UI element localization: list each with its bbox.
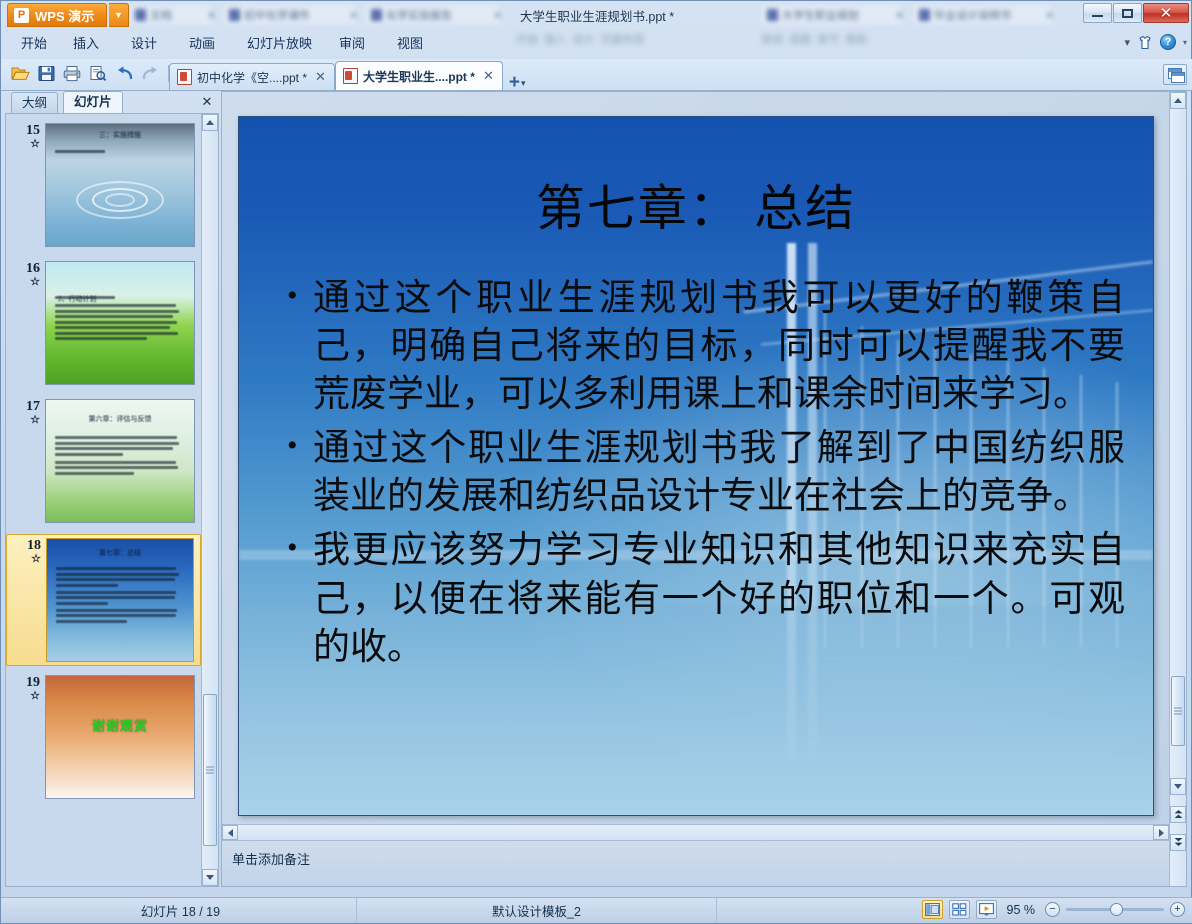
status-slide-counter: 幻灯片 18 / 19 bbox=[5, 898, 357, 923]
wps-app-button[interactable]: P WPS 演示 bbox=[7, 3, 107, 27]
thumbnail-image: 第七章：总结 bbox=[46, 538, 194, 662]
slide-bullet-1: • 通过这个职业生涯规划书我可以更好的鞭策自己，明确自己将来的目标，同时可以提醒… bbox=[287, 275, 1125, 419]
ribbon-tab-design[interactable]: 设计 bbox=[123, 34, 165, 54]
document-tab-strip: 初中化学《空....ppt * ✕ 大学生职业生....ppt * ✕ + ▾ bbox=[169, 61, 525, 90]
status-template-name: 默认设计模板_2 bbox=[357, 898, 717, 923]
bullet-marker-icon: • bbox=[287, 275, 313, 419]
scrollbar-thumb[interactable] bbox=[203, 694, 217, 846]
document-tab-career-plan[interactable]: 大学生职业生....ppt * ✕ bbox=[335, 61, 503, 90]
pane-tab-outline[interactable]: 大纲 bbox=[11, 92, 58, 113]
bullet-text: 通过这个职业生涯规划书我可以更好的鞭策自己，明确自己将来的目标，同时可以提醒我不… bbox=[313, 275, 1125, 419]
slide-title[interactable]: 第七章： 总结 bbox=[239, 169, 1153, 240]
thumbnail-scrollbar[interactable] bbox=[201, 114, 218, 886]
pane-tab-strip: 大纲 幻灯片 ✕ bbox=[5, 91, 219, 113]
minimize-button[interactable] bbox=[1083, 3, 1112, 23]
slide-bullet-3: • 我更应该努力学习专业知识和其他知识来充实自己，以便在将来能有一个好的职位和一… bbox=[287, 527, 1125, 671]
document-tab-label: 初中化学《空....ppt * bbox=[197, 69, 307, 86]
window-controls: ✕ bbox=[1083, 3, 1189, 23]
scroll-up-button[interactable] bbox=[1170, 92, 1186, 109]
help-icon[interactable]: ? bbox=[1160, 34, 1176, 50]
maximize-button[interactable] bbox=[1113, 3, 1142, 23]
thumbnail-item-16[interactable]: 16 ☆ 2、行 bbox=[6, 258, 201, 390]
normal-view-button[interactable] bbox=[922, 900, 943, 919]
thumbnail-title: 2、行动计划 bbox=[58, 294, 97, 304]
status-zoom-controls: 95 % − + bbox=[922, 900, 1186, 919]
bullet-text: 通过这个职业生涯规划书我了解到了中国纺织服装业的发展和纺织品设计专业在社会上的竞… bbox=[313, 425, 1125, 521]
thumbnail-item-18[interactable]: 18 ☆ 第七章：总结 bbox=[6, 534, 201, 666]
help-caret-icon[interactable]: ▾ bbox=[1183, 38, 1187, 47]
redo-icon[interactable] bbox=[139, 62, 161, 84]
previous-slide-button[interactable] bbox=[1170, 806, 1186, 823]
animation-star-icon: ☆ bbox=[12, 414, 40, 427]
animation-star-icon: ☆ bbox=[12, 138, 40, 151]
ribbon-tab-view[interactable]: 视图 bbox=[389, 34, 431, 54]
next-slide-button[interactable] bbox=[1170, 834, 1186, 851]
zoom-level-label: 95 % bbox=[1007, 903, 1036, 917]
bullet-marker-icon: • bbox=[287, 527, 313, 671]
ribbon-tab-review[interactable]: 审阅 bbox=[331, 34, 373, 54]
new-tab-group: + ▾ bbox=[509, 76, 526, 90]
bullet-text: 我更应该努力学习专业知识和其他知识来充实自己，以便在将来能有一个好的职位和一个。… bbox=[313, 527, 1125, 671]
thumbnail-item-19[interactable]: 19 ☆ 谢谢观赏 bbox=[6, 672, 201, 804]
notes-placeholder: 单击添加备注 bbox=[232, 852, 310, 867]
window-title: 大学生职业生涯规划书.ppt * bbox=[1, 6, 1192, 25]
scroll-down-button[interactable] bbox=[202, 869, 218, 886]
title-bar: P WPS 演示 ▼ 大学生职业生涯规划书.ppt * ✕ bbox=[1, 1, 1192, 29]
scroll-up-button[interactable] bbox=[202, 114, 218, 131]
thumbnail-item-17[interactable]: 17 ☆ 第六章：评估与反馈 bbox=[6, 396, 201, 528]
thumbnail-image: 三：实施措施 bbox=[45, 123, 195, 247]
wps-presentation-window: 文档 ✕ 初中化学课件 ✕ 化学实验报告 ✕ 大学生职业规划 ✕ 毕业设计说明书… bbox=[0, 0, 1192, 924]
thumbnail-list: 15 ☆ 三：实施措施 16 ☆ bbox=[5, 113, 219, 887]
document-tab-chemistry[interactable]: 初中化学《空....ppt * ✕ bbox=[169, 63, 335, 90]
thumbnail-body-lines bbox=[55, 150, 186, 156]
skin-shirt-icon[interactable] bbox=[1137, 35, 1153, 50]
zoom-slider-handle[interactable] bbox=[1110, 903, 1123, 916]
slideshow-view-button[interactable] bbox=[976, 900, 997, 919]
notes-pane[interactable]: 单击添加备注 bbox=[222, 840, 1169, 886]
pane-tab-slides[interactable]: 幻灯片 bbox=[63, 91, 123, 113]
pane-close-icon[interactable]: ✕ bbox=[199, 94, 215, 109]
thumbnail-image: 第六章：评估与反馈 bbox=[45, 399, 195, 523]
zoom-out-button[interactable]: − bbox=[1045, 902, 1060, 917]
print-preview-icon[interactable] bbox=[87, 62, 109, 84]
slide-number: 16 ☆ bbox=[12, 261, 45, 289]
thumbnail-title: 第六章：评估与反馈 bbox=[46, 414, 194, 424]
ppt-file-icon bbox=[343, 68, 358, 84]
slide-horizontal-scrollbar[interactable] bbox=[222, 824, 1169, 840]
slide-number: 17 ☆ bbox=[12, 399, 45, 427]
status-bar: 幻灯片 18 / 19 默认设计模板_2 bbox=[1, 897, 1192, 923]
wps-logo-icon: P bbox=[14, 8, 29, 23]
scrollbar-thumb[interactable] bbox=[1171, 676, 1185, 746]
scroll-down-button[interactable] bbox=[1170, 778, 1186, 795]
thumbnail-title: 三：实施措施 bbox=[46, 130, 194, 140]
thumbnail-item-15[interactable]: 15 ☆ 三：实施措施 bbox=[6, 120, 201, 252]
ribbon-tab-slideshow[interactable]: 幻灯片放映 bbox=[239, 34, 320, 54]
ppt-file-icon bbox=[177, 69, 192, 85]
animation-star-icon: ☆ bbox=[12, 690, 40, 703]
slide-sorter-view-button[interactable] bbox=[949, 900, 970, 919]
thumbnail-image: 2、行动计划 bbox=[45, 261, 195, 385]
ribbon-tab-start[interactable]: 开始 bbox=[13, 34, 55, 54]
thumbnail-title: 第七章：总结 bbox=[47, 548, 193, 558]
new-tab-caret-icon[interactable]: ▾ bbox=[521, 78, 526, 89]
current-slide[interactable]: 第七章： 总结 • 通过这个职业生涯规划书我可以更好的鞭策自己，明确自己将来的目… bbox=[238, 116, 1154, 816]
slide-vertical-scrollbar[interactable] bbox=[1169, 92, 1186, 886]
ribbon-tab-insert[interactable]: 插入 bbox=[65, 34, 107, 54]
cascade-windows-icon[interactable] bbox=[1163, 64, 1187, 85]
print-icon[interactable] bbox=[61, 62, 83, 84]
slide-editor-area: 第七章： 总结 • 通过这个职业生涯规划书我可以更好的鞭策自己，明确自己将来的目… bbox=[221, 91, 1187, 887]
document-tab-label: 大学生职业生....ppt * bbox=[363, 68, 475, 85]
slide-number: 19 ☆ bbox=[12, 675, 45, 703]
thumbnail-scroll-content: 15 ☆ 三：实施措施 16 ☆ bbox=[6, 114, 201, 886]
thumbnail-image: 谢谢观赏 bbox=[45, 675, 195, 799]
slide-bullet-2: • 通过这个职业生涯规划书我了解到了中国纺织服装业的发展和纺织品设计专业在社会上… bbox=[287, 425, 1125, 521]
slide-canvas[interactable]: 第七章： 总结 • 通过这个职业生涯规划书我可以更好的鞭策自己，明确自己将来的目… bbox=[222, 92, 1169, 824]
scroll-right-button[interactable] bbox=[1153, 825, 1169, 840]
zoom-in-button[interactable]: + bbox=[1170, 902, 1185, 917]
document-tab-close-icon[interactable]: ✕ bbox=[483, 68, 494, 84]
thumbnail-overlay-text: 谢谢观赏 bbox=[92, 715, 148, 734]
app-brand-label: WPS 演示 bbox=[35, 6, 94, 25]
thumbnail-body-lines bbox=[55, 436, 186, 477]
ribbon-tab-bar: 开始 插入 设计 动画 幻灯片放映 审阅 视图 ▾ ? ▾ bbox=[1, 29, 1192, 59]
zoom-slider[interactable] bbox=[1066, 908, 1164, 911]
save-icon[interactable] bbox=[35, 62, 57, 84]
ribbon-right-controls: ▾ ? ▾ bbox=[1124, 34, 1187, 50]
ribbon-tab-animation[interactable]: 动画 bbox=[181, 34, 223, 54]
close-button[interactable]: ✕ bbox=[1143, 3, 1189, 23]
slide-number: 15 ☆ bbox=[12, 123, 45, 151]
thumbnail-body-lines bbox=[56, 567, 185, 625]
chevron-down-icon[interactable]: ▾ bbox=[1124, 36, 1130, 49]
slide-body-placeholder[interactable]: • 通过这个职业生涯规划书我可以更好的鞭策自己，明确自己将来的目标，同时可以提醒… bbox=[287, 275, 1125, 678]
slide-number: 18 ☆ bbox=[13, 538, 46, 566]
quick-access-toolbar: ▾ bbox=[9, 62, 181, 84]
quick-access-and-tabs-bar: ▾ 初中化学《空....ppt * ✕ 大学生职业生....ppt * ✕ + … bbox=[1, 59, 1192, 91]
scroll-left-button[interactable] bbox=[222, 825, 238, 840]
animation-star-icon: ☆ bbox=[13, 553, 41, 566]
app-menu-caret-icon[interactable]: ▼ bbox=[109, 3, 129, 27]
open-folder-icon[interactable] bbox=[9, 62, 31, 84]
slides-outline-pane: 大纲 幻灯片 ✕ 15 ☆ 三：实施措施 bbox=[5, 91, 219, 887]
new-tab-button[interactable]: + bbox=[509, 76, 520, 90]
document-tab-close-icon[interactable]: ✕ bbox=[315, 69, 326, 85]
bullet-marker-icon: • bbox=[287, 425, 313, 521]
animation-star-icon: ☆ bbox=[12, 276, 40, 289]
undo-icon[interactable] bbox=[113, 62, 135, 84]
